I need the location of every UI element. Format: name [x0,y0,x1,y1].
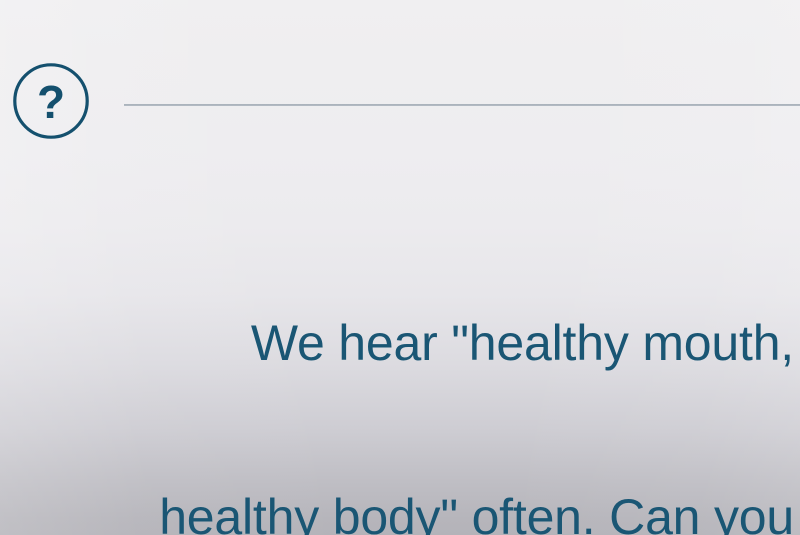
question-line-1: We hear "healthy mouth, [0,314,794,372]
header-divider [124,104,800,106]
svg-text:?: ? [37,76,65,128]
question-text: We hear "healthy mouth, healthy body" of… [0,198,800,535]
question-mark-circle-icon: ? [12,62,90,140]
question-line-2: healthy body" often. Can you [0,488,794,535]
header-block: ? [0,0,800,170]
slide-canvas: ? We hear "healthy mouth, healthy body" … [0,0,800,535]
